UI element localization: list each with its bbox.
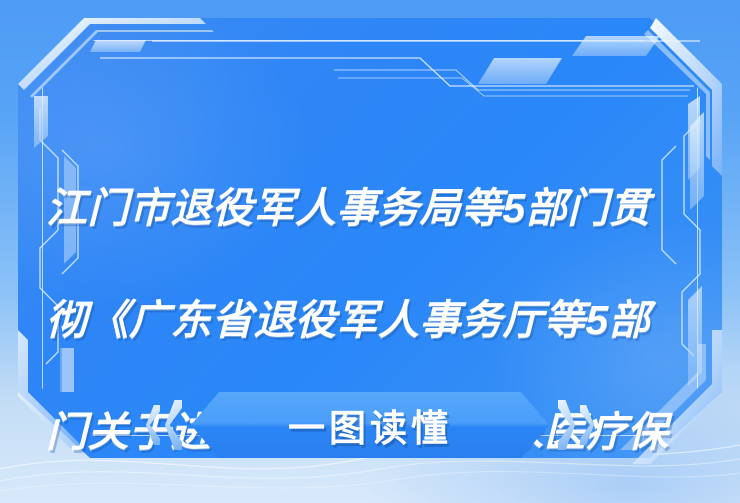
chevron-right-outer-icon [580,405,594,445]
chevron-left-inner-icon [165,400,182,450]
headline-line-1: 江门市退役军人事务局等5部门贯 [46,180,694,236]
badge-row: 一图读懂 [0,389,740,461]
badge-label: 一图读懂 [288,398,452,452]
read-in-one-picture-badge[interactable]: 一图读懂 [191,392,549,458]
poster-stage: 江门市退役军人事务局等5部门贯 彻《广东省退役军人事务厅等5部 门关于进一步推进… [0,0,740,503]
chevron-left-outer-icon [146,405,160,445]
headline-line-2: 彻《广东省退役军人事务厅等5部 [46,292,694,348]
chevron-right-inner-icon [558,400,575,450]
